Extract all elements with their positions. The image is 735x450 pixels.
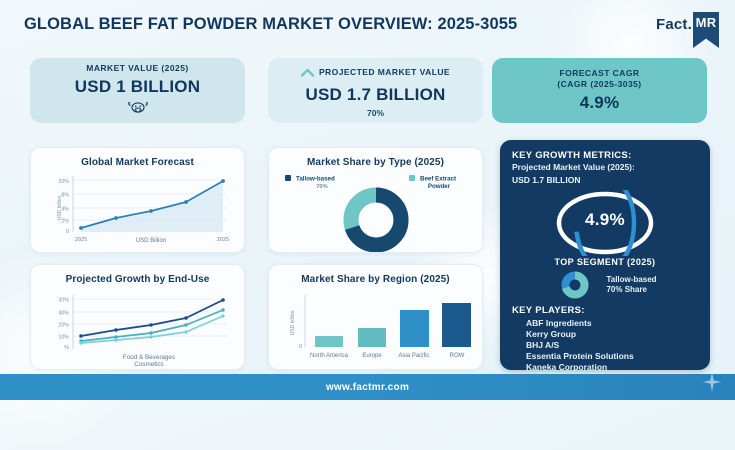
- legend-swatch-beef-extract: [409, 175, 415, 181]
- list-item: Kerry Group: [526, 329, 698, 340]
- legend-label-tallow: Tallow-based: [296, 176, 335, 183]
- legend-label-beef-extract: Beef Extract: [420, 176, 456, 183]
- y-axis-label: USD billion: [57, 195, 63, 220]
- list-item: Kaneka Corporation: [526, 362, 698, 373]
- y-tick-label: 0: [299, 344, 302, 350]
- legend-label-beef-extract-2: Powder: [428, 183, 451, 190]
- key-growth-metrics-panel: KEY GROWTH METRICS: Projected Market Val…: [500, 140, 710, 370]
- y-tick-label: 20%: [58, 323, 69, 329]
- trend-up-icon: [301, 64, 314, 82]
- legend-swatch-tallow: [285, 175, 291, 181]
- y-tick-label: %: [64, 345, 69, 351]
- stat-value: USD 1.7 BILLION: [306, 85, 446, 105]
- y-tick-label: 20%: [58, 179, 69, 185]
- chart-title: Global Market Forecast: [31, 157, 244, 168]
- segment-donut-icon: [553, 271, 597, 299]
- global-market-forecast-chart: 20% 8% 4% 2% 0 USD billion 2025 2025 USD…: [31, 170, 246, 252]
- footer-url[interactable]: www.factmr.com: [326, 382, 409, 393]
- x-tick-label: 2025: [217, 237, 229, 243]
- stat-label-line1: FORECAST CAGR: [560, 68, 640, 79]
- projected-market-value-label: Projected Market Value (2025):: [512, 162, 698, 174]
- x-tick-label: 2025: [75, 237, 87, 243]
- stat-card-forecast-cagr: FORECAST CAGR (CAGR (2025-3035) 4.9%: [492, 58, 707, 123]
- x-tick-label: ROW: [450, 353, 465, 359]
- legend-value-tallow: 70%: [316, 184, 328, 190]
- bar-row: [442, 303, 471, 347]
- header: GLOBAL BEEF FAT POWDER MARKET OVERVIEW: …: [0, 0, 735, 52]
- stat-card-market-value: MARKET VALUE (2025) USD 1 BILLION: [30, 58, 245, 123]
- market-share-by-region-chart: 0 USD billion North America Europe Asia …: [269, 287, 484, 369]
- page-title: GLOBAL BEEF FAT POWDER MARKET OVERVIEW: …: [24, 15, 517, 34]
- market-share-by-type-donut: Tallow-based 70% Beef Extract Powder: [269, 170, 484, 252]
- chart-panel-global-market-forecast: Global Market Forecast 20% 8% 4% 2% 0 US…: [30, 147, 245, 253]
- chart-panel-market-share-by-region: Market Share by Region (2025) 0 USD bill…: [268, 264, 483, 370]
- stat-card-projected-value: PROJECTED MARKET VALUE USD 1.7 BILLION 7…: [268, 58, 483, 123]
- x-tick-label: North America: [310, 353, 349, 359]
- chart-title: Market Share by Type (2025): [269, 157, 482, 168]
- logo-text: Fact.: [656, 12, 692, 38]
- bar-europe: [358, 328, 386, 347]
- projected-growth-end-use-chart: 30% 40% 20% 10% % Food & Beverages Cosme…: [31, 287, 246, 369]
- bar-asia-pacific: [400, 310, 429, 347]
- key-players-heading: KEY PLAYERS:: [512, 305, 698, 316]
- cow-icon: [127, 100, 149, 119]
- x-tick-label: Cosmetics: [134, 361, 163, 368]
- brand-logo: Fact. MR: [656, 12, 719, 48]
- logo-mark-text: MR: [693, 12, 719, 34]
- list-item: ABF Ingredients: [526, 318, 698, 329]
- cagr-gauge: 4.9%: [512, 190, 698, 256]
- gauge-value: 4.9%: [512, 210, 698, 230]
- x-tick-label: Europe: [362, 353, 382, 359]
- key-growth-metrics-heading: KEY GROWTH METRICS:: [512, 150, 698, 161]
- y-tick-label: 10%: [58, 335, 69, 341]
- x-axis-label: USD Billion: [136, 238, 166, 244]
- projected-market-value-value: USD 1.7 BILLION: [512, 175, 698, 187]
- bar-north-america: [315, 336, 343, 347]
- x-tick-label: Food & Beverages: [123, 354, 175, 361]
- segment-share: 70% Share: [606, 285, 656, 296]
- stat-value: 4.9%: [580, 93, 620, 113]
- y-axis-label: USD billion: [290, 310, 296, 335]
- x-tick-label: Asia Pacific: [398, 353, 429, 359]
- segment-name: Tallow-based: [606, 275, 656, 286]
- chart-title: Projected Growth by End-Use: [31, 274, 244, 285]
- bookmark-ribbon-icon: MR: [693, 12, 719, 48]
- footer: www.factmr.com: [0, 374, 735, 400]
- list-item: BHJ A/S: [526, 340, 698, 351]
- chart-panel-market-share-by-type: Market Share by Type (2025) Tallow-based…: [268, 147, 483, 253]
- sparkle-icon: [703, 372, 721, 397]
- top-segment-heading: TOP SEGMENT (2025): [512, 257, 698, 267]
- stat-label-line2: (CAGR (2025-3035): [557, 79, 641, 90]
- stat-value: USD 1 BILLION: [75, 77, 200, 97]
- list-item: Essentia Protein Solutions: [526, 351, 698, 362]
- stat-label: MARKET VALUE (2025): [86, 63, 188, 74]
- y-tick-label: 40%: [58, 311, 69, 317]
- chart-panel-projected-growth-by-end-use: Projected Growth by End-Use 30% 40% 20% …: [30, 264, 245, 370]
- stat-label: PROJECTED MARKET VALUE: [319, 67, 450, 78]
- stat-sub: 70%: [367, 108, 384, 118]
- chart-title: Market Share by Region (2025): [269, 274, 482, 285]
- y-tick-label: 0: [66, 229, 69, 235]
- y-tick-label: 30%: [58, 298, 69, 304]
